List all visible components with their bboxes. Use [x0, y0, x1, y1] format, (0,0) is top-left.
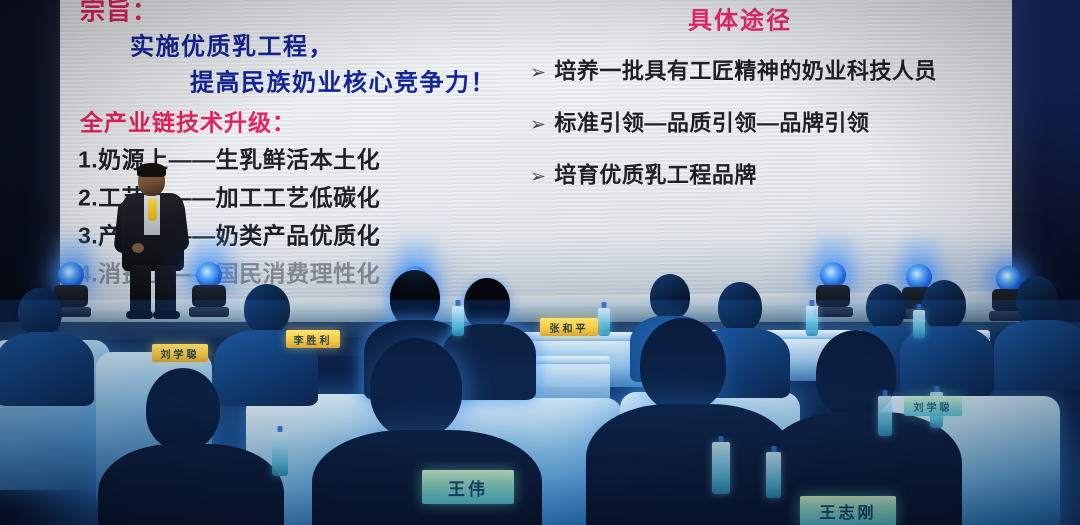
speaker-hair [137, 163, 166, 177]
placard-mid-1-name: 张和平 [550, 320, 589, 335]
placard-mid-2: 李胜利 [286, 330, 340, 348]
placard-mid-2-name: 李胜利 [294, 332, 333, 347]
slide-purpose-label: 宗旨： [80, 0, 540, 26]
person-head [390, 270, 440, 326]
speaker-tie [148, 199, 157, 221]
speaker-shoe-right [153, 311, 180, 319]
slide-right-item-1: ➢培养一批具有工匠精神的奶业科技人员 [530, 57, 1000, 87]
slide-chain-heading: 全产业链技术升级： [80, 108, 540, 136]
slide-blue-line-1: 实施优质乳工程， [130, 32, 540, 62]
person-head [244, 284, 290, 334]
speaker-presenter [108, 165, 200, 317]
slide-right-title: 具体途径 [480, 7, 1000, 35]
water-bottle-2 [598, 308, 610, 336]
person-head [640, 318, 726, 412]
moving-head-light-2 [196, 262, 229, 317]
slide-right-item-2-text: 标准引领—品质引领—品牌引领 [554, 110, 869, 135]
person-head [718, 282, 762, 332]
light-yoke [192, 285, 226, 307]
placard-foreground-3-name: 刘学聪 [914, 399, 953, 414]
speaker-hand [132, 243, 144, 253]
moving-head-light-1 [58, 262, 91, 317]
placard-foreground-2-name: 王志刚 [819, 499, 876, 523]
slide-right-item-3: ➢培育优质乳工程品牌 [530, 161, 1000, 191]
speaker-shoe-left [126, 311, 153, 319]
light-yoke [816, 285, 850, 307]
person-head [370, 338, 462, 438]
slide-right-column: 具体途径 ➢培养一批具有工匠精神的奶业科技人员 ➢标准引领—品质引领—品牌引领 … [520, 5, 1000, 191]
bullet-arrow-icon: ➢ [530, 114, 546, 135]
placard-foreground-1-name: 王伟 [448, 475, 488, 500]
water-bottle-4 [913, 310, 925, 338]
person-head [866, 284, 906, 330]
light-base [189, 307, 229, 317]
person-shoulders [0, 332, 94, 406]
slide-blue-line-2: 提高民族奶业核心竞争力！ [190, 68, 540, 98]
water-bottle-7 [766, 452, 781, 498]
slide-right-item-2: ➢标准引领—品质引领—品牌引领 [530, 109, 1000, 139]
water-bottle-3 [806, 306, 818, 336]
placard-foreground-3: 刘学聪 [904, 396, 962, 416]
light-base [813, 307, 853, 317]
person-head [1016, 276, 1058, 324]
person-head [922, 280, 966, 330]
bullet-arrow-icon: ➢ [530, 62, 546, 83]
placard-foreground-2: 王志刚 [800, 496, 896, 525]
water-bottle-8 [878, 396, 892, 436]
conference-photo: 宗旨： 实施优质乳工程， 提高民族奶业核心竞争力！ 全产业链技术升级： 1.奶源… [0, 0, 1080, 525]
placard-mid-3-name: 刘学聪 [161, 346, 200, 361]
water-bottle-6 [712, 442, 730, 494]
speaker-leg-left [130, 265, 151, 317]
person-head [464, 278, 510, 330]
placard-foreground-1: 王伟 [422, 470, 514, 504]
placard-mid-1: 张和平 [540, 318, 598, 336]
person-shoulders [586, 404, 794, 525]
speaker-leg-right [155, 265, 176, 317]
moving-head-light-4 [820, 262, 853, 317]
person-head [650, 274, 690, 320]
water-bottle-1 [452, 306, 464, 336]
slide-right-item-3-text: 培育优质乳工程品牌 [554, 162, 757, 187]
person-head [146, 368, 220, 450]
person-shoulders [98, 444, 284, 525]
placard-mid-3: 刘学聪 [152, 344, 208, 362]
water-bottle-5 [272, 432, 288, 476]
bullet-arrow-icon: ➢ [530, 166, 546, 187]
person-shoulders [994, 320, 1080, 390]
person-head [18, 288, 62, 336]
slide-right-item-1-text: 培养一批具有工匠精神的奶业科技人员 [554, 58, 937, 83]
